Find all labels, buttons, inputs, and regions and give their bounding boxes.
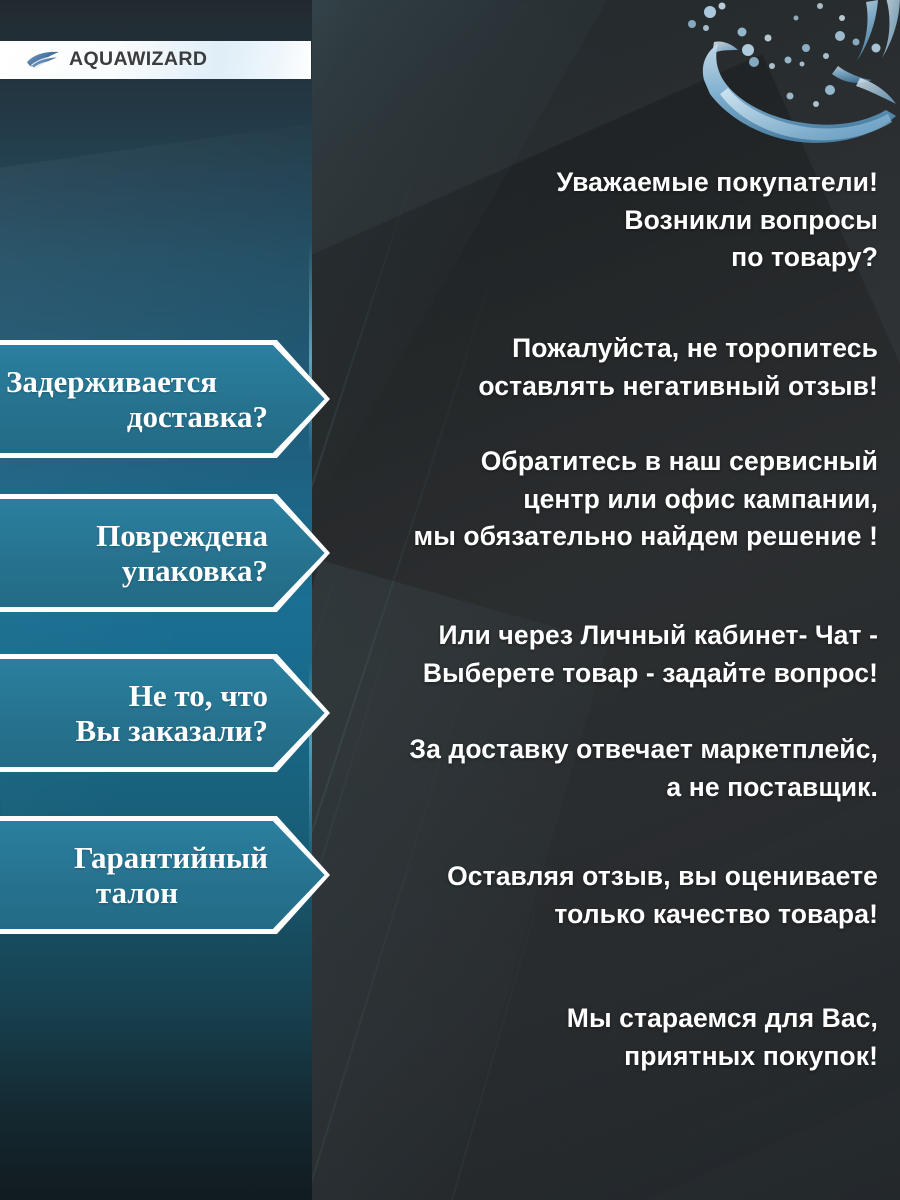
banner-label: Не то, что Вы заказали? — [0, 678, 330, 748]
copy-chat-route: Или через Личный кабинет- Чат - Выберете… — [318, 617, 878, 692]
banner-line-1: Задерживается — [6, 364, 268, 399]
banner-delayed-delivery[interactable]: Задерживается доставка? — [0, 340, 330, 458]
banner-line-1: Повреждена — [6, 518, 268, 553]
banner-label: Задерживается доставка? — [0, 364, 330, 434]
banner-damaged-packaging[interactable]: Повреждена упаковка? — [0, 494, 330, 612]
copy-greeting: Уважаемые покупатели! Возникли вопросы п… — [318, 164, 878, 277]
banner-label: Гарантийный талон — [0, 840, 330, 910]
copy-service-center: Обратитесь в наш сервисный центр или офи… — [318, 443, 878, 556]
banner-line-1: Гарантийный — [6, 840, 268, 875]
copy-no-rush-review: Пожалуйста, не торопитесь оставлять нега… — [318, 330, 878, 405]
banner-line-1: Не то, что — [6, 678, 268, 713]
wave-swoosh-icon — [26, 50, 60, 70]
banner-label: Повреждена упаковка? — [0, 518, 330, 588]
copy-closing: Мы стараемся для Вас, приятных покупок! — [318, 1000, 878, 1075]
brand-logo-band: AQUAWIZARD — [0, 41, 311, 79]
banner-wrong-item[interactable]: Не то, что Вы заказали? — [0, 654, 330, 772]
banner-line-2: доставка? — [6, 399, 268, 434]
banner-line-2: Вы заказали? — [6, 713, 268, 748]
banner-line-2: талон — [6, 875, 268, 910]
copy-review-scope: Оставляя отзыв, вы оцениваете только кач… — [318, 858, 878, 933]
banner-warranty-card[interactable]: Гарантийный талон — [0, 816, 330, 934]
copy-delivery-note: За доставку отвечает маркетплейс, а не п… — [318, 731, 878, 806]
banner-line-2: упаковка? — [6, 553, 268, 588]
promo-poster: AQUAWIZARD Задерживается доставка? Повре… — [0, 0, 900, 1200]
brand-name: AQUAWIZARD — [69, 50, 207, 70]
